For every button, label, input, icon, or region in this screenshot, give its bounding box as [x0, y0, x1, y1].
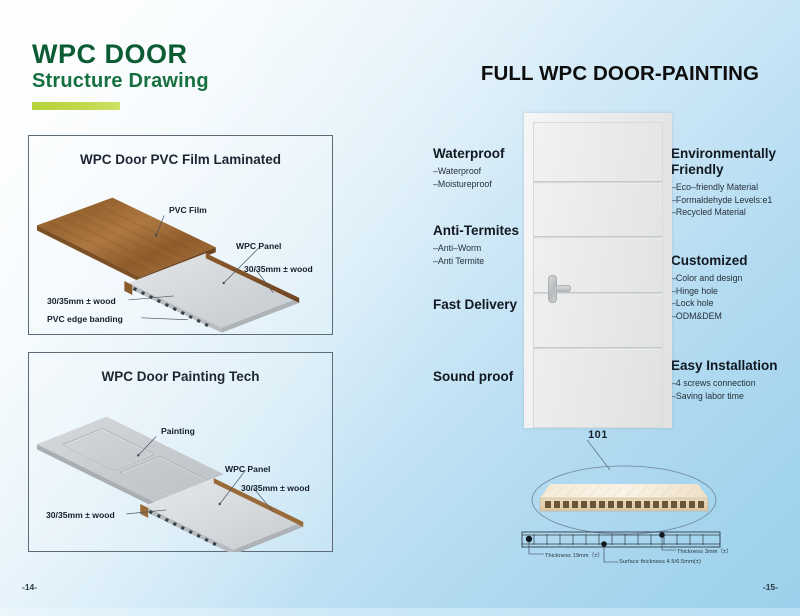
accent-bar: [32, 102, 120, 110]
panel-painting-tech: WPC Door Painting Tech: [28, 352, 333, 552]
page-title: WPC DOOR: [32, 40, 209, 68]
dot-thickness-total: [526, 536, 532, 542]
feature-heading: Environmentally Friendly: [671, 146, 797, 178]
feature-item: –Saving labor time: [671, 390, 797, 403]
feature-item: –Moistureproof: [433, 178, 505, 191]
feature-heading: Waterproof: [433, 146, 505, 162]
feature-waterproof: Waterproof –Waterproof –Moistureproof: [433, 146, 505, 190]
feature-item: –Lock hole: [671, 297, 797, 310]
slide-page: WPC DOOR Structure Drawing WPC Door PVC …: [0, 0, 800, 616]
label-dim-right-2: 30/35mm ± wood: [241, 483, 310, 493]
feature-heading: Customized: [671, 253, 797, 269]
feature-item: –Recycled Material: [671, 206, 797, 219]
feature-heading: Easy Installation: [671, 358, 797, 374]
feature-fast-delivery: Fast Delivery: [433, 297, 517, 313]
label-pvc-film: PVC Film: [169, 205, 207, 215]
panel-cross-section-detail: Thickness 19mm（±） Surface thickness 4.5/…: [500, 440, 790, 570]
label-wpc-panel-2: WPC Panel: [225, 464, 270, 474]
feature-list: –4 screws connection –Saving labor time: [671, 377, 797, 402]
feature-item: –Formaldehyde Levels:e1: [671, 194, 797, 207]
label-thickness-total: Thickness 19mm（±）: [545, 551, 603, 559]
panel-pvc-film-laminated: WPC Door PVC Film Laminated: [28, 135, 333, 335]
feature-heading: Sound proof: [433, 369, 513, 385]
left-header: WPC DOOR Structure Drawing: [32, 40, 209, 110]
door-handle-icon: [548, 275, 557, 303]
label-thickness-wall: Thickness 3mm（±）: [677, 547, 732, 555]
label-pvc-edge-banding: PVC edge banding: [47, 314, 123, 324]
feature-heading: Fast Delivery: [433, 297, 517, 313]
page-number-left: -14-: [22, 582, 37, 592]
dot-thickness-wall: [659, 532, 665, 538]
feature-anti-termites: Anti-Termites –Anti–Worm –Anti Termite: [433, 223, 519, 267]
door-illustration: [524, 113, 672, 428]
right-title: FULL WPC DOOR-PAINTING: [460, 62, 780, 86]
feature-list: –Waterproof –Moistureproof: [433, 165, 505, 190]
feature-list: –Eco–friendly Material –Formaldehyde Lev…: [671, 181, 797, 219]
feature-item: –Anti Termite: [433, 255, 519, 268]
feature-item: –Color and design: [671, 272, 797, 285]
label-dim-left: 30/35mm ± wood: [47, 296, 116, 306]
page-subtitle: Structure Drawing: [32, 69, 209, 93]
label-wpc-panel: WPC Panel: [236, 241, 281, 251]
feature-item: –Eco–friendly Material: [671, 181, 797, 194]
label-painting: Painting: [161, 426, 195, 436]
feature-easy-installation: Easy Installation –4 screws connection –…: [671, 358, 797, 402]
door-groove: [534, 236, 662, 239]
feature-item: –Waterproof: [433, 165, 505, 178]
label-dim-right: 30/35mm ± wood: [244, 264, 313, 274]
cross-section-svg: [500, 440, 790, 570]
feature-item: –4 screws connection: [671, 377, 797, 390]
door-groove: [534, 181, 662, 184]
feature-item: –Hinge hole: [671, 285, 797, 298]
feature-item: –ODM&DEM: [671, 310, 797, 323]
door-groove: [534, 347, 662, 350]
feature-list: –Anti–Worm –Anti Termite: [433, 242, 519, 267]
label-dim-left-2: 30/35mm ± wood: [46, 510, 115, 520]
dot-surface-thickness: [601, 541, 607, 547]
feature-customized: Customized –Color and design –Hinge hole…: [671, 253, 797, 323]
feature-item: –Anti–Worm: [433, 242, 519, 255]
magnified-board: [540, 484, 708, 511]
label-surface-thickness: Surface thickness 4.5/6.5mm(±): [619, 559, 701, 565]
feature-environmentally-friendly: Environmentally Friendly –Eco–friendly M…: [671, 146, 797, 219]
painting-tech-diagram: [29, 353, 332, 552]
door-leaf: [533, 122, 663, 428]
magnify-leader: [578, 440, 610, 470]
feature-list: –Color and design –Hinge hole –Lock hole…: [671, 272, 797, 323]
feature-sound-proof: Sound proof: [433, 369, 513, 385]
page-number-right: -15-: [763, 582, 778, 592]
feature-heading: Anti-Termites: [433, 223, 519, 239]
